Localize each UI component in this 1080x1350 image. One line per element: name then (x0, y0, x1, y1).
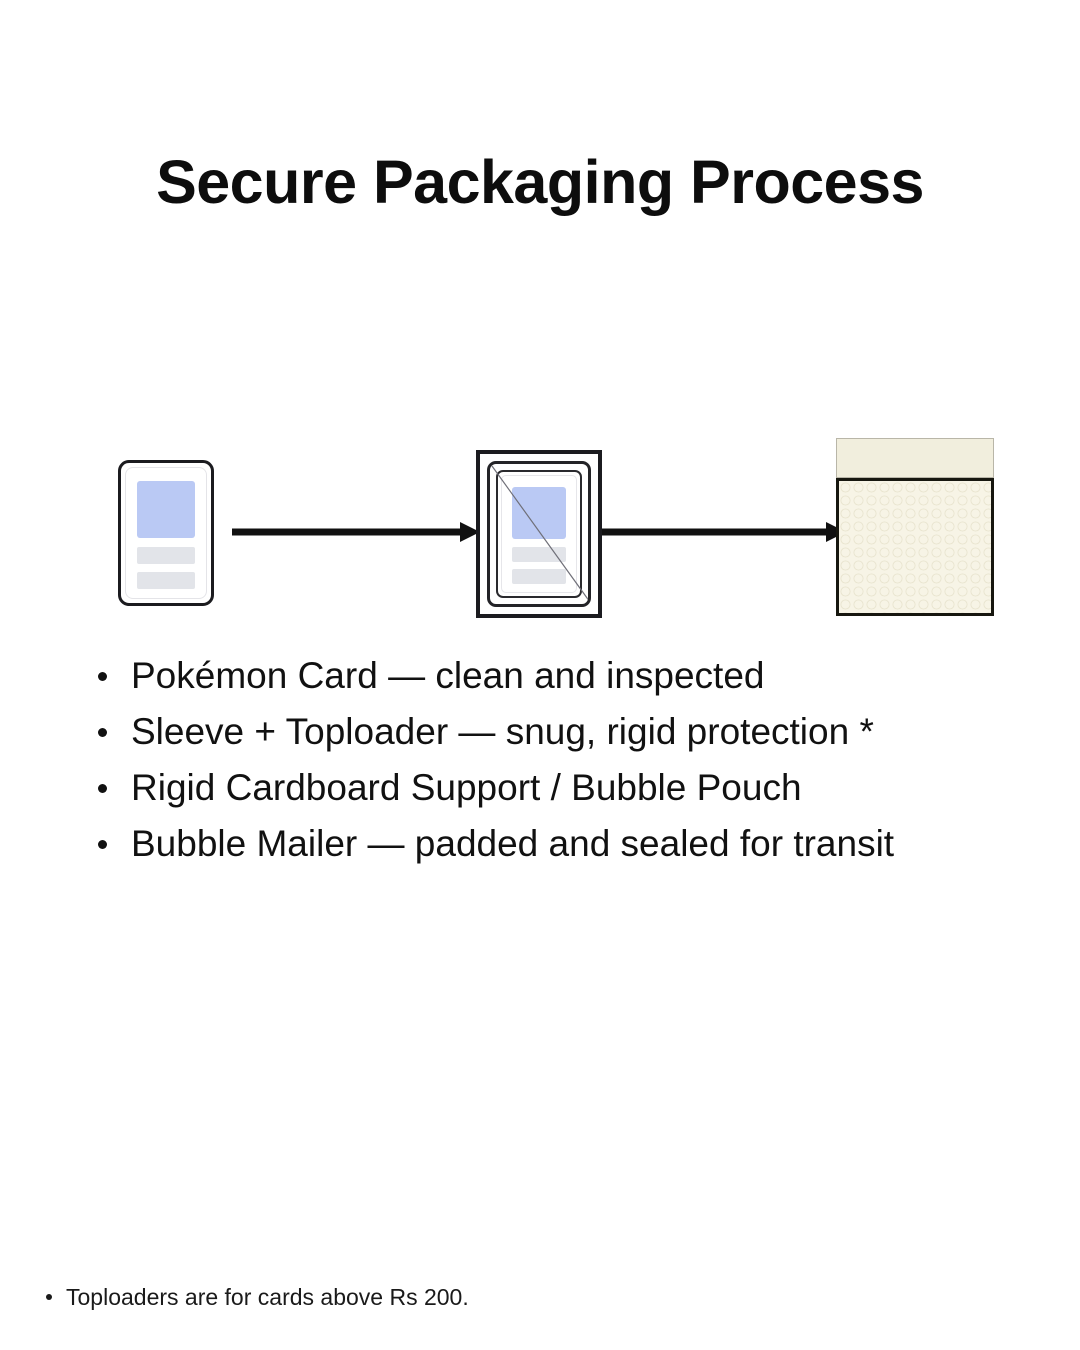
flow-arrow-icon (232, 520, 480, 544)
list-item-label: Pokémon Card — clean and inspected (131, 655, 764, 696)
card-artwork-block (512, 487, 566, 539)
card-inner-frame (501, 475, 577, 593)
bullet-dot-icon (46, 1294, 52, 1300)
mailer-flap (836, 438, 994, 478)
list-item-label: Rigid Cardboard Support / Bubble Pouch (131, 767, 802, 808)
bullet-dot-icon (98, 728, 107, 737)
pokemon-card-icon (118, 460, 214, 606)
flow-arrow-icon (602, 520, 846, 544)
pokemon-card-inner (496, 470, 582, 598)
card-text-line (137, 547, 195, 564)
list-item: Pokémon Card — clean and inspected (88, 648, 1048, 704)
page-title: Secure Packaging Process (0, 145, 1080, 219)
footnote-list: Toploaders are for cards above Rs 200. (36, 1280, 1036, 1314)
list-item: Rigid Cardboard Support / Bubble Pouch (88, 760, 1048, 816)
card-text-line (137, 572, 195, 589)
list-item: Sleeve + Toploader — snug, rigid protect… (88, 704, 1048, 760)
bullet-dot-icon (98, 672, 107, 681)
sleeve-toploader-icon (476, 450, 602, 618)
list-item-label: Bubble Mailer — padded and sealed for tr… (131, 823, 894, 864)
mailer-body (836, 478, 994, 616)
bullet-dot-icon (98, 840, 107, 849)
footnote-item: Toploaders are for cards above Rs 200. (36, 1280, 1036, 1314)
card-sleeve (487, 461, 591, 607)
footnote-label: Toploaders are for cards above Rs 200. (66, 1284, 469, 1310)
card-inner-frame (125, 467, 207, 599)
list-item-label: Sleeve + Toploader — snug, rigid protect… (131, 711, 874, 752)
packaging-process-diagram (0, 420, 1080, 630)
card-text-line (512, 569, 566, 584)
bullet-dot-icon (98, 784, 107, 793)
bubble-mailer-icon (836, 438, 994, 616)
bubble-texture (839, 481, 991, 613)
card-text-line (512, 547, 566, 562)
packaging-steps-list: Pokémon Card — clean and inspected Sleev… (88, 648, 1048, 872)
card-artwork-block (137, 481, 195, 538)
list-item: Bubble Mailer — padded and sealed for tr… (88, 816, 1048, 872)
